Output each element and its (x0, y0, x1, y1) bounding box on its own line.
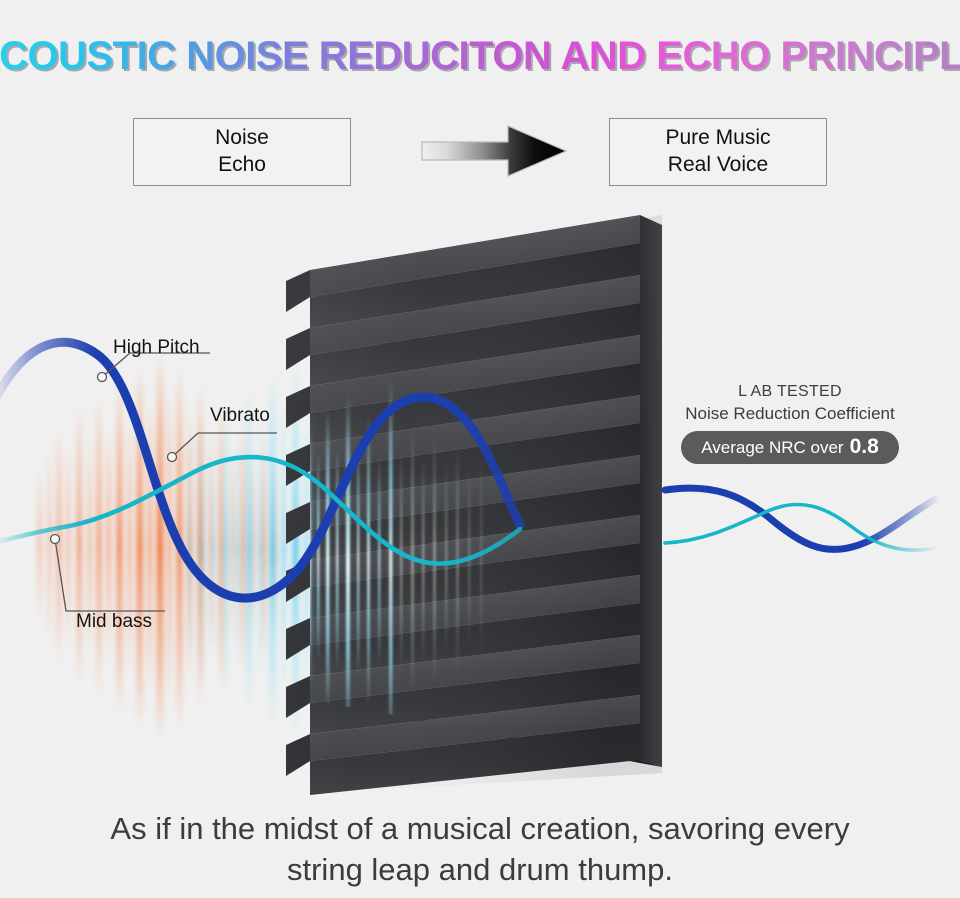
callout-label-mid-bass: Mid bass (76, 611, 152, 633)
page-title: ACOUSTIC NOISE REDUCITON AND ECHO PRINCI… (0, 34, 960, 79)
input-box-noise-echo: Noise Echo (133, 118, 351, 186)
outgoing-waves (665, 488, 940, 550)
caption-line-2: string leap and drum thump. (0, 849, 960, 890)
nrc-badge-value: 0.8 (850, 435, 879, 458)
nrc-badge-prefix: Average NRC over (701, 438, 843, 457)
nrc-badge: Average NRC over0.8 (681, 431, 899, 464)
right-arrow-icon (420, 122, 570, 180)
output-blue-wave (665, 488, 940, 549)
caption-line-1: As if in the midst of a musical creation… (0, 808, 960, 849)
acoustic-scene (0, 195, 960, 805)
nrc-block: L AB TESTED Noise Reduction Coefficient … (650, 383, 930, 464)
lab-tested-label: L AB TESTED (650, 383, 930, 401)
footer-caption: As if in the midst of a musical creation… (0, 808, 960, 890)
callout-label-high-pitch: High Pitch (113, 337, 200, 359)
infographic-root: ACOUSTIC NOISE REDUCITON AND ECHO PRINCI… (0, 0, 960, 898)
scene-svg (0, 195, 960, 805)
output-box-line1: Pure Music (665, 125, 770, 152)
callout-label-vibrato: Vibrato (210, 405, 270, 427)
output-box-pure-music: Pure Music Real Voice (609, 118, 827, 186)
input-box-line2: Echo (218, 152, 266, 179)
title-bar: ACOUSTIC NOISE REDUCITON AND ECHO PRINCI… (0, 28, 960, 84)
nrc-coefficient-label: Noise Reduction Coefficient (650, 404, 930, 424)
input-box-line1: Noise (215, 125, 269, 152)
output-box-line2: Real Voice (668, 152, 768, 179)
